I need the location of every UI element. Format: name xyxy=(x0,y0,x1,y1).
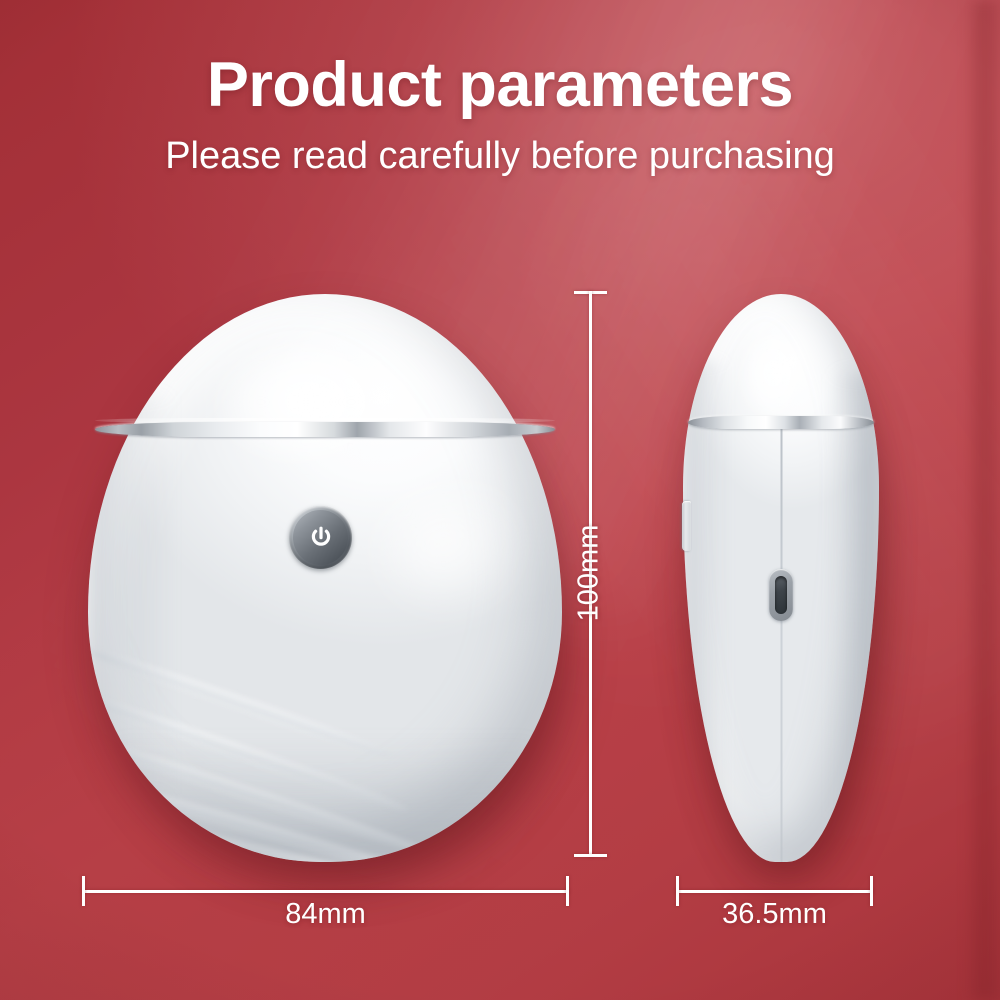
product-front-secondary-highlight xyxy=(334,442,552,646)
product-side-seam-line xyxy=(781,425,783,862)
product-front-body xyxy=(88,294,562,862)
header: Product parameters Please read carefully… xyxy=(0,52,1000,178)
side-width-dimension-line xyxy=(676,890,873,893)
power-button[interactable] xyxy=(289,506,352,569)
page-subtitle: Please read carefully before purchasing xyxy=(0,136,1000,178)
product-parameters-infographic: Product parameters Please read carefully… xyxy=(0,0,1000,1000)
product-side-right-edge-shade xyxy=(832,374,879,817)
height-dimension-cap-bottom xyxy=(574,854,607,857)
power-icon xyxy=(308,525,334,551)
front-width-dimension-label: 84mm xyxy=(82,898,569,931)
page-title: Product parameters xyxy=(0,52,1000,118)
front-width-dimension-line xyxy=(82,890,569,893)
height-dimension-label: 100mm xyxy=(573,525,606,622)
product-side-view xyxy=(683,294,879,862)
product-front-left-edge-shade xyxy=(88,396,173,794)
chrome-trim-band-side xyxy=(688,416,874,429)
side-width-dimension-label: 36.5mm xyxy=(676,898,873,931)
chrome-trim-band xyxy=(95,422,555,437)
product-front-view xyxy=(88,294,562,862)
product-side-left-edge-shade xyxy=(683,362,726,816)
product-front-bottom-shade xyxy=(116,737,533,862)
side-button[interactable] xyxy=(682,501,691,551)
usb-c-port xyxy=(769,569,793,621)
